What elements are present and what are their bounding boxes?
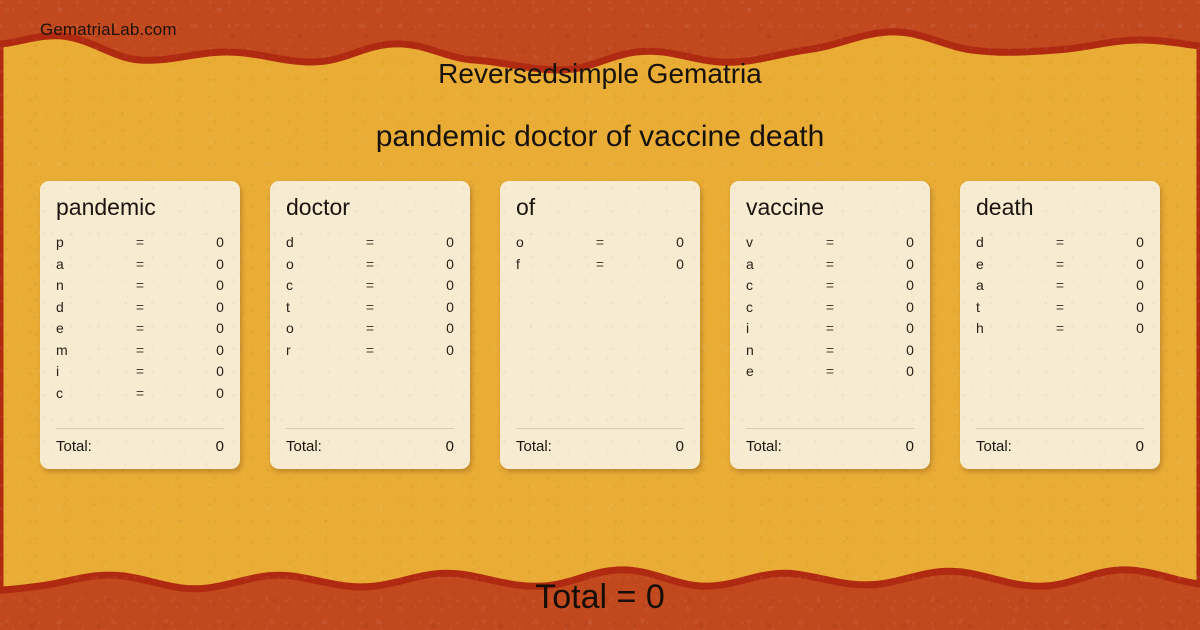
letter-row: o=0	[286, 320, 454, 342]
gematria-result-canvas: GematriaLab.com Reversedsimple Gematria …	[0, 0, 1200, 630]
letter-glyph: e	[56, 320, 116, 336]
letter-glyph: o	[286, 256, 346, 272]
word-card-title: vaccine	[746, 195, 914, 220]
equals-sign: =	[576, 234, 623, 250]
equals-sign: =	[346, 277, 393, 293]
card-total-value: 0	[446, 438, 454, 455]
grand-total-label: Total = 0	[0, 578, 1200, 617]
letter-value: 0	[164, 320, 224, 336]
word-card-title: death	[976, 195, 1144, 220]
equals-sign: =	[806, 299, 853, 315]
equals-sign: =	[806, 342, 853, 358]
equals-sign: =	[116, 299, 163, 315]
letter-value: 0	[854, 234, 914, 250]
equals-sign: =	[116, 277, 163, 293]
letter-value: 0	[854, 299, 914, 315]
equals-sign: =	[1036, 256, 1083, 272]
card-total-row: Total:0	[516, 438, 684, 457]
letter-row: a=0	[56, 256, 224, 278]
card-divider	[516, 428, 684, 429]
equals-sign: =	[346, 342, 393, 358]
letter-row: o=0	[516, 234, 684, 256]
card-total-value: 0	[676, 438, 684, 455]
letter-value: 0	[164, 342, 224, 358]
letter-value: 0	[164, 385, 224, 401]
letter-glyph: a	[746, 256, 806, 272]
letter-row: r=0	[286, 342, 454, 364]
letter-glyph: r	[286, 342, 346, 358]
letter-value: 0	[854, 277, 914, 293]
card-total-label: Total:	[976, 438, 1136, 455]
letter-glyph: t	[976, 299, 1036, 315]
letter-glyph: d	[56, 299, 116, 315]
card-total-row: Total:0	[286, 438, 454, 457]
letter-glyph: e	[976, 256, 1036, 272]
letter-glyph: n	[746, 342, 806, 358]
letter-row: p=0	[56, 234, 224, 256]
letter-value: 0	[624, 256, 684, 272]
equals-sign: =	[116, 363, 163, 379]
letter-glyph: c	[286, 277, 346, 293]
letter-row: e=0	[56, 320, 224, 342]
equals-sign: =	[806, 320, 853, 336]
card-total-value: 0	[906, 438, 914, 455]
equals-sign: =	[116, 342, 163, 358]
letter-glyph: e	[746, 363, 806, 379]
letter-value: 0	[854, 363, 914, 379]
letter-value: 0	[164, 363, 224, 379]
letter-glyph: d	[976, 234, 1036, 250]
letter-value: 0	[624, 234, 684, 250]
letter-rows: d=0o=0c=0t=0o=0r=0	[286, 234, 454, 428]
equals-sign: =	[806, 256, 853, 272]
equals-sign: =	[116, 385, 163, 401]
card-total-row: Total:0	[56, 438, 224, 457]
letter-row: d=0	[976, 234, 1144, 256]
letter-glyph: i	[56, 363, 116, 379]
letter-glyph: i	[746, 320, 806, 336]
letter-row: e=0	[746, 363, 914, 385]
letter-value: 0	[394, 256, 454, 272]
letter-row: c=0	[56, 385, 224, 407]
equals-sign: =	[116, 234, 163, 250]
letter-row: a=0	[976, 277, 1144, 299]
letter-row: m=0	[56, 342, 224, 364]
letter-glyph: d	[286, 234, 346, 250]
letter-row: c=0	[286, 277, 454, 299]
equals-sign: =	[346, 234, 393, 250]
word-card: vaccinev=0a=0c=0c=0i=0n=0e=0Total:0	[730, 181, 930, 469]
word-card: doctord=0o=0c=0t=0o=0r=0Total:0	[270, 181, 470, 469]
letter-value: 0	[164, 277, 224, 293]
card-divider	[976, 428, 1144, 429]
card-total-value: 0	[1136, 438, 1144, 455]
letter-value: 0	[394, 277, 454, 293]
equals-sign: =	[576, 256, 623, 272]
card-divider	[286, 428, 454, 429]
card-divider	[746, 428, 914, 429]
letter-row: i=0	[56, 363, 224, 385]
word-card-title: pandemic	[56, 195, 224, 220]
word-card-title: of	[516, 195, 684, 220]
letter-row: t=0	[286, 299, 454, 321]
letter-value: 0	[1084, 234, 1144, 250]
letter-row: t=0	[976, 299, 1144, 321]
card-total-label: Total:	[286, 438, 446, 455]
letter-value: 0	[1084, 299, 1144, 315]
letter-value: 0	[1084, 320, 1144, 336]
letter-glyph: c	[746, 277, 806, 293]
letter-row: c=0	[746, 299, 914, 321]
card-total-label: Total:	[516, 438, 676, 455]
letter-glyph: o	[516, 234, 576, 250]
letter-value: 0	[394, 342, 454, 358]
letter-row: v=0	[746, 234, 914, 256]
letter-value: 0	[164, 299, 224, 315]
letter-row: i=0	[746, 320, 914, 342]
letter-value: 0	[164, 234, 224, 250]
letter-row: n=0	[746, 342, 914, 364]
word-cards-row: pandemicp=0a=0n=0d=0e=0m=0i=0c=0Total:0d…	[40, 181, 1160, 469]
letter-rows: p=0a=0n=0d=0e=0m=0i=0c=0	[56, 234, 224, 428]
letter-row: o=0	[286, 256, 454, 278]
letter-glyph: o	[286, 320, 346, 336]
letter-value: 0	[1084, 277, 1144, 293]
word-card: pandemicp=0a=0n=0d=0e=0m=0i=0c=0Total:0	[40, 181, 240, 469]
letter-glyph: f	[516, 256, 576, 272]
equals-sign: =	[1036, 234, 1083, 250]
letter-glyph: c	[56, 385, 116, 401]
letter-glyph: a	[976, 277, 1036, 293]
equals-sign: =	[346, 320, 393, 336]
letter-value: 0	[394, 320, 454, 336]
equals-sign: =	[1036, 320, 1083, 336]
letter-glyph: n	[56, 277, 116, 293]
word-card: ofo=0f=0Total:0	[500, 181, 700, 469]
letter-value: 0	[854, 256, 914, 272]
card-total-label: Total:	[56, 438, 216, 455]
card-total-row: Total:0	[746, 438, 914, 457]
letter-value: 0	[1084, 256, 1144, 272]
letter-rows: o=0f=0	[516, 234, 684, 428]
equals-sign: =	[116, 320, 163, 336]
letter-rows: d=0e=0a=0t=0h=0	[976, 234, 1144, 428]
letter-glyph: c	[746, 299, 806, 315]
equals-sign: =	[346, 299, 393, 315]
letter-row: c=0	[746, 277, 914, 299]
letter-row: f=0	[516, 256, 684, 278]
equals-sign: =	[1036, 277, 1083, 293]
equals-sign: =	[806, 277, 853, 293]
letter-row: d=0	[286, 234, 454, 256]
cipher-title: Reversedsimple Gematria	[0, 58, 1200, 90]
site-watermark: GematriaLab.com	[40, 20, 177, 40]
letter-row: d=0	[56, 299, 224, 321]
letter-value: 0	[854, 342, 914, 358]
phrase-heading: pandemic doctor of vaccine death	[0, 120, 1200, 154]
equals-sign: =	[806, 363, 853, 379]
equals-sign: =	[116, 256, 163, 272]
letter-glyph: v	[746, 234, 806, 250]
letter-glyph: a	[56, 256, 116, 272]
letter-glyph: t	[286, 299, 346, 315]
word-card: deathd=0e=0a=0t=0h=0Total:0	[960, 181, 1160, 469]
letter-value: 0	[164, 256, 224, 272]
letter-row: n=0	[56, 277, 224, 299]
letter-row: h=0	[976, 320, 1144, 342]
letter-value: 0	[394, 299, 454, 315]
letter-glyph: h	[976, 320, 1036, 336]
letter-value: 0	[394, 234, 454, 250]
card-divider	[56, 428, 224, 429]
letter-glyph: p	[56, 234, 116, 250]
card-total-row: Total:0	[976, 438, 1144, 457]
equals-sign: =	[1036, 299, 1083, 315]
letter-glyph: m	[56, 342, 116, 358]
equals-sign: =	[346, 256, 393, 272]
letter-row: a=0	[746, 256, 914, 278]
letter-value: 0	[854, 320, 914, 336]
word-card-title: doctor	[286, 195, 454, 220]
letter-row: e=0	[976, 256, 1144, 278]
card-total-value: 0	[216, 438, 224, 455]
letter-rows: v=0a=0c=0c=0i=0n=0e=0	[746, 234, 914, 428]
equals-sign: =	[806, 234, 853, 250]
card-total-label: Total:	[746, 438, 906, 455]
